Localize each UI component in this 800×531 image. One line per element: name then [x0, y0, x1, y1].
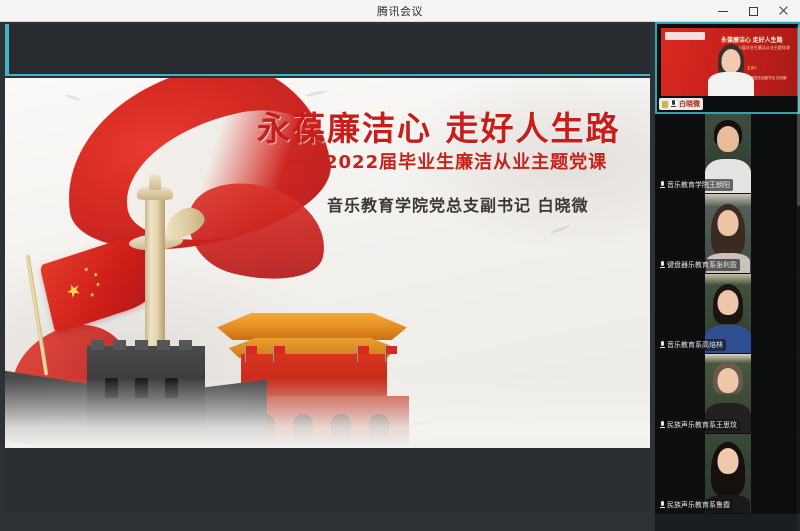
window-title: 腾讯会议: [377, 3, 423, 19]
minimize-button[interactable]: [708, 0, 738, 22]
share-highlight-border: [5, 24, 9, 76]
mic-muted-icon: [660, 501, 665, 509]
face: [717, 368, 738, 393]
window-titlebar: 腾讯会议: [0, 0, 800, 22]
participant-name-text: 键盘器乐教育系张利盈: [667, 260, 737, 270]
speaker-shared-slide-thumb: 永葆廉洁心 走好人生路 ——2022届毕业生廉洁从业主题党课 主讲人 音乐教育学…: [661, 28, 798, 96]
participant-name-label: 白晓微: [659, 98, 703, 110]
slide-subtitle: ——2022届毕业生廉洁从业主题党课: [287, 148, 607, 174]
shared-screen-stage[interactable]: ★ ★ ★ ★ ★: [0, 22, 655, 531]
participant-tile[interactable]: 音乐教育学院王朗阳: [655, 114, 800, 194]
face: [717, 448, 738, 474]
face: [722, 49, 741, 73]
host-badge-icon: [662, 101, 668, 108]
face: [717, 290, 738, 315]
participant-name-text: 民族声乐教育系鲁霞: [667, 500, 730, 510]
participant-tile[interactable]: 民族声乐教育系鲁霞: [655, 434, 800, 514]
participant-name-label: 民族声乐教育系王思玟: [657, 419, 740, 431]
presentation-slide: ★ ★ ★ ★ ★: [5, 78, 650, 448]
face: [717, 126, 739, 152]
maximize-button[interactable]: [738, 0, 768, 22]
close-icon: [778, 6, 788, 16]
participant-tile[interactable]: 音乐教育系高焙林: [655, 274, 800, 354]
speaker-person-figure: [705, 42, 757, 96]
maximize-icon: [749, 7, 758, 16]
institution-logo-icon: [665, 32, 705, 40]
torso: [708, 72, 754, 96]
participant-tile[interactable]: 民族声乐教育系王思玟: [655, 354, 800, 434]
slide-title: 永葆廉洁心 走好人生路: [257, 102, 621, 150]
shared-screen-content: ★ ★ ★ ★ ★: [5, 24, 650, 512]
mic-muted-icon: [660, 181, 665, 189]
participant-filmstrip[interactable]: 永葆廉洁心 走好人生路 ——2022届毕业生廉洁从业主题党课 主讲人 音乐教育学…: [655, 22, 800, 531]
face: [717, 210, 738, 236]
participant-name-label: 键盘器乐教育系张利盈: [657, 259, 740, 271]
slide-byline: 音乐教育学院党总支副书记 白晓微: [327, 192, 589, 216]
participant-name-text: 民族声乐教育系王思玟: [667, 420, 737, 430]
participant-tile[interactable]: 键盘器乐教育系张利盈: [655, 194, 800, 274]
participant-name-text: 音乐教育系高焙林: [667, 340, 723, 350]
participant-name-label: 音乐教育系高焙林: [657, 339, 726, 351]
participant-tile-active-speaker[interactable]: 永葆廉洁心 走好人生路 ——2022届毕业生廉洁从业主题党课 主讲人 音乐教育学…: [655, 22, 800, 114]
participant-name-label: 民族声乐教育系鲁霞: [657, 499, 733, 511]
participant-name-text: 音乐教育学院王朗阳: [667, 180, 730, 190]
tencent-meeting-window: 腾讯会议: [0, 0, 800, 531]
mic-muted-icon: [660, 421, 665, 429]
slide-text-block: 永葆廉洁心 走好人生路 ——2022届毕业生廉洁从业主题党课 音乐教育学院党总支…: [5, 78, 650, 448]
participant-name-label: 音乐教育学院王朗阳: [657, 179, 733, 191]
window-controls: [708, 0, 798, 22]
mic-muted-icon: [660, 341, 665, 349]
mic-muted-icon: [660, 261, 665, 269]
close-button[interactable]: [768, 0, 798, 22]
mic-on-icon: [670, 100, 677, 108]
minimize-icon: [718, 11, 728, 12]
shared-window-topbar: [5, 24, 650, 76]
participant-name-text: 白晓微: [679, 99, 700, 109]
